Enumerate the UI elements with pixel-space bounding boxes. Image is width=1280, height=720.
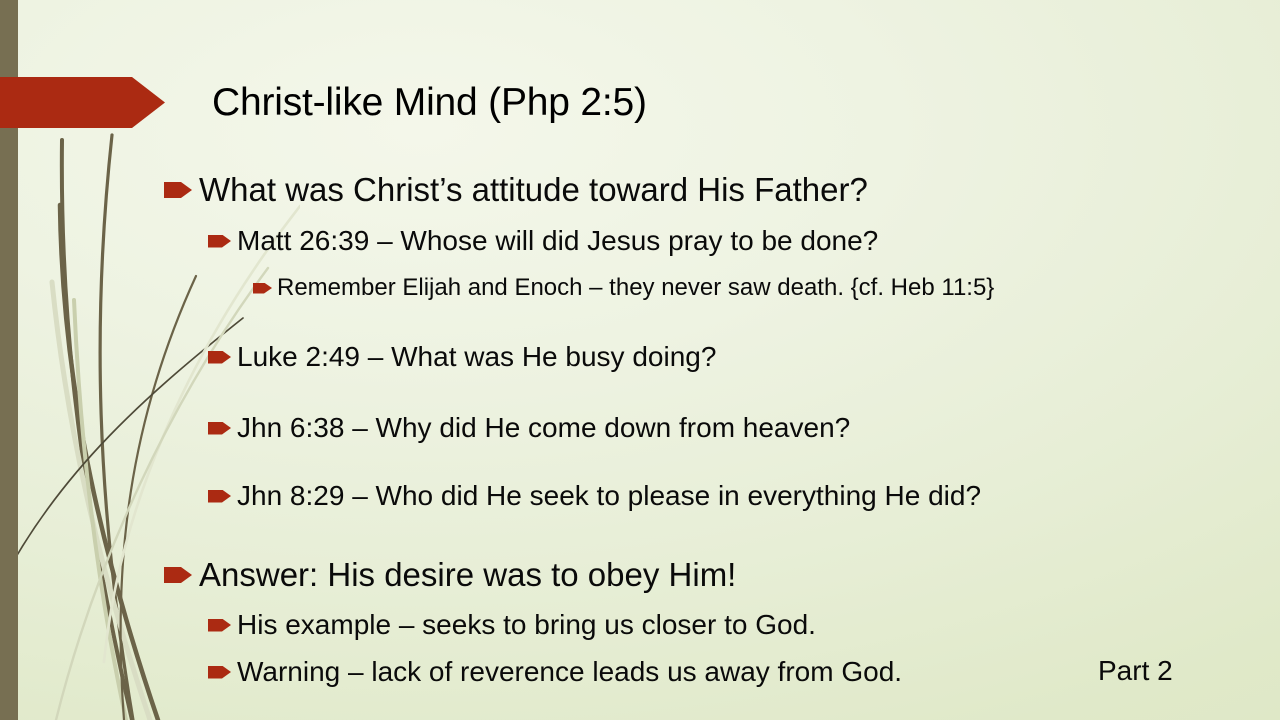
slide-body: What was Christ’s attitude toward His Fa… xyxy=(0,0,1280,720)
bullet-line: Matt 26:39 – Whose will did Jesus pray t… xyxy=(208,225,878,257)
bullet-arrow-icon xyxy=(208,235,231,248)
bullet-arrow-icon xyxy=(208,422,231,435)
bullet-text: What was Christ’s attitude toward His Fa… xyxy=(199,171,868,209)
bullet-arrow-icon xyxy=(208,666,231,679)
bullet-line: Answer: His desire was to obey Him! xyxy=(164,556,736,594)
part-label: Part 2 xyxy=(1098,655,1173,687)
bullet-line: Jhn 6:38 – Why did He come down from hea… xyxy=(208,412,850,444)
bullet-line: Warning – lack of reverence leads us awa… xyxy=(208,656,902,688)
bullet-text: Jhn 6:38 – Why did He come down from hea… xyxy=(237,412,850,444)
bullet-line: Remember Elijah and Enoch – they never s… xyxy=(253,274,994,302)
bullet-line: What was Christ’s attitude toward His Fa… xyxy=(164,171,868,209)
bullet-line: Luke 2:49 – What was He busy doing? xyxy=(208,341,716,373)
bullet-text: Remember Elijah and Enoch – they never s… xyxy=(277,274,994,302)
slide-canvas: Christ-like Mind (Php 2:5) What was Chri… xyxy=(0,0,1280,720)
bullet-arrow-icon xyxy=(164,182,192,198)
bullet-arrow-icon xyxy=(208,351,231,364)
bullet-arrow-icon xyxy=(253,283,272,294)
bullet-line: His example – seeks to bring us closer t… xyxy=(208,609,816,641)
bullet-text: Matt 26:39 – Whose will did Jesus pray t… xyxy=(237,225,878,257)
bullet-text: Luke 2:49 – What was He busy doing? xyxy=(237,341,716,373)
bullet-text: Warning – lack of reverence leads us awa… xyxy=(237,656,902,688)
bullet-arrow-icon xyxy=(208,490,231,503)
bullet-line: Jhn 8:29 – Who did He seek to please in … xyxy=(208,480,981,512)
bullet-arrow-icon xyxy=(164,567,192,583)
bullet-text: His example – seeks to bring us closer t… xyxy=(237,609,816,641)
bullet-text: Answer: His desire was to obey Him! xyxy=(199,556,736,594)
bullet-arrow-icon xyxy=(208,619,231,632)
bullet-text: Jhn 8:29 – Who did He seek to please in … xyxy=(237,480,981,512)
